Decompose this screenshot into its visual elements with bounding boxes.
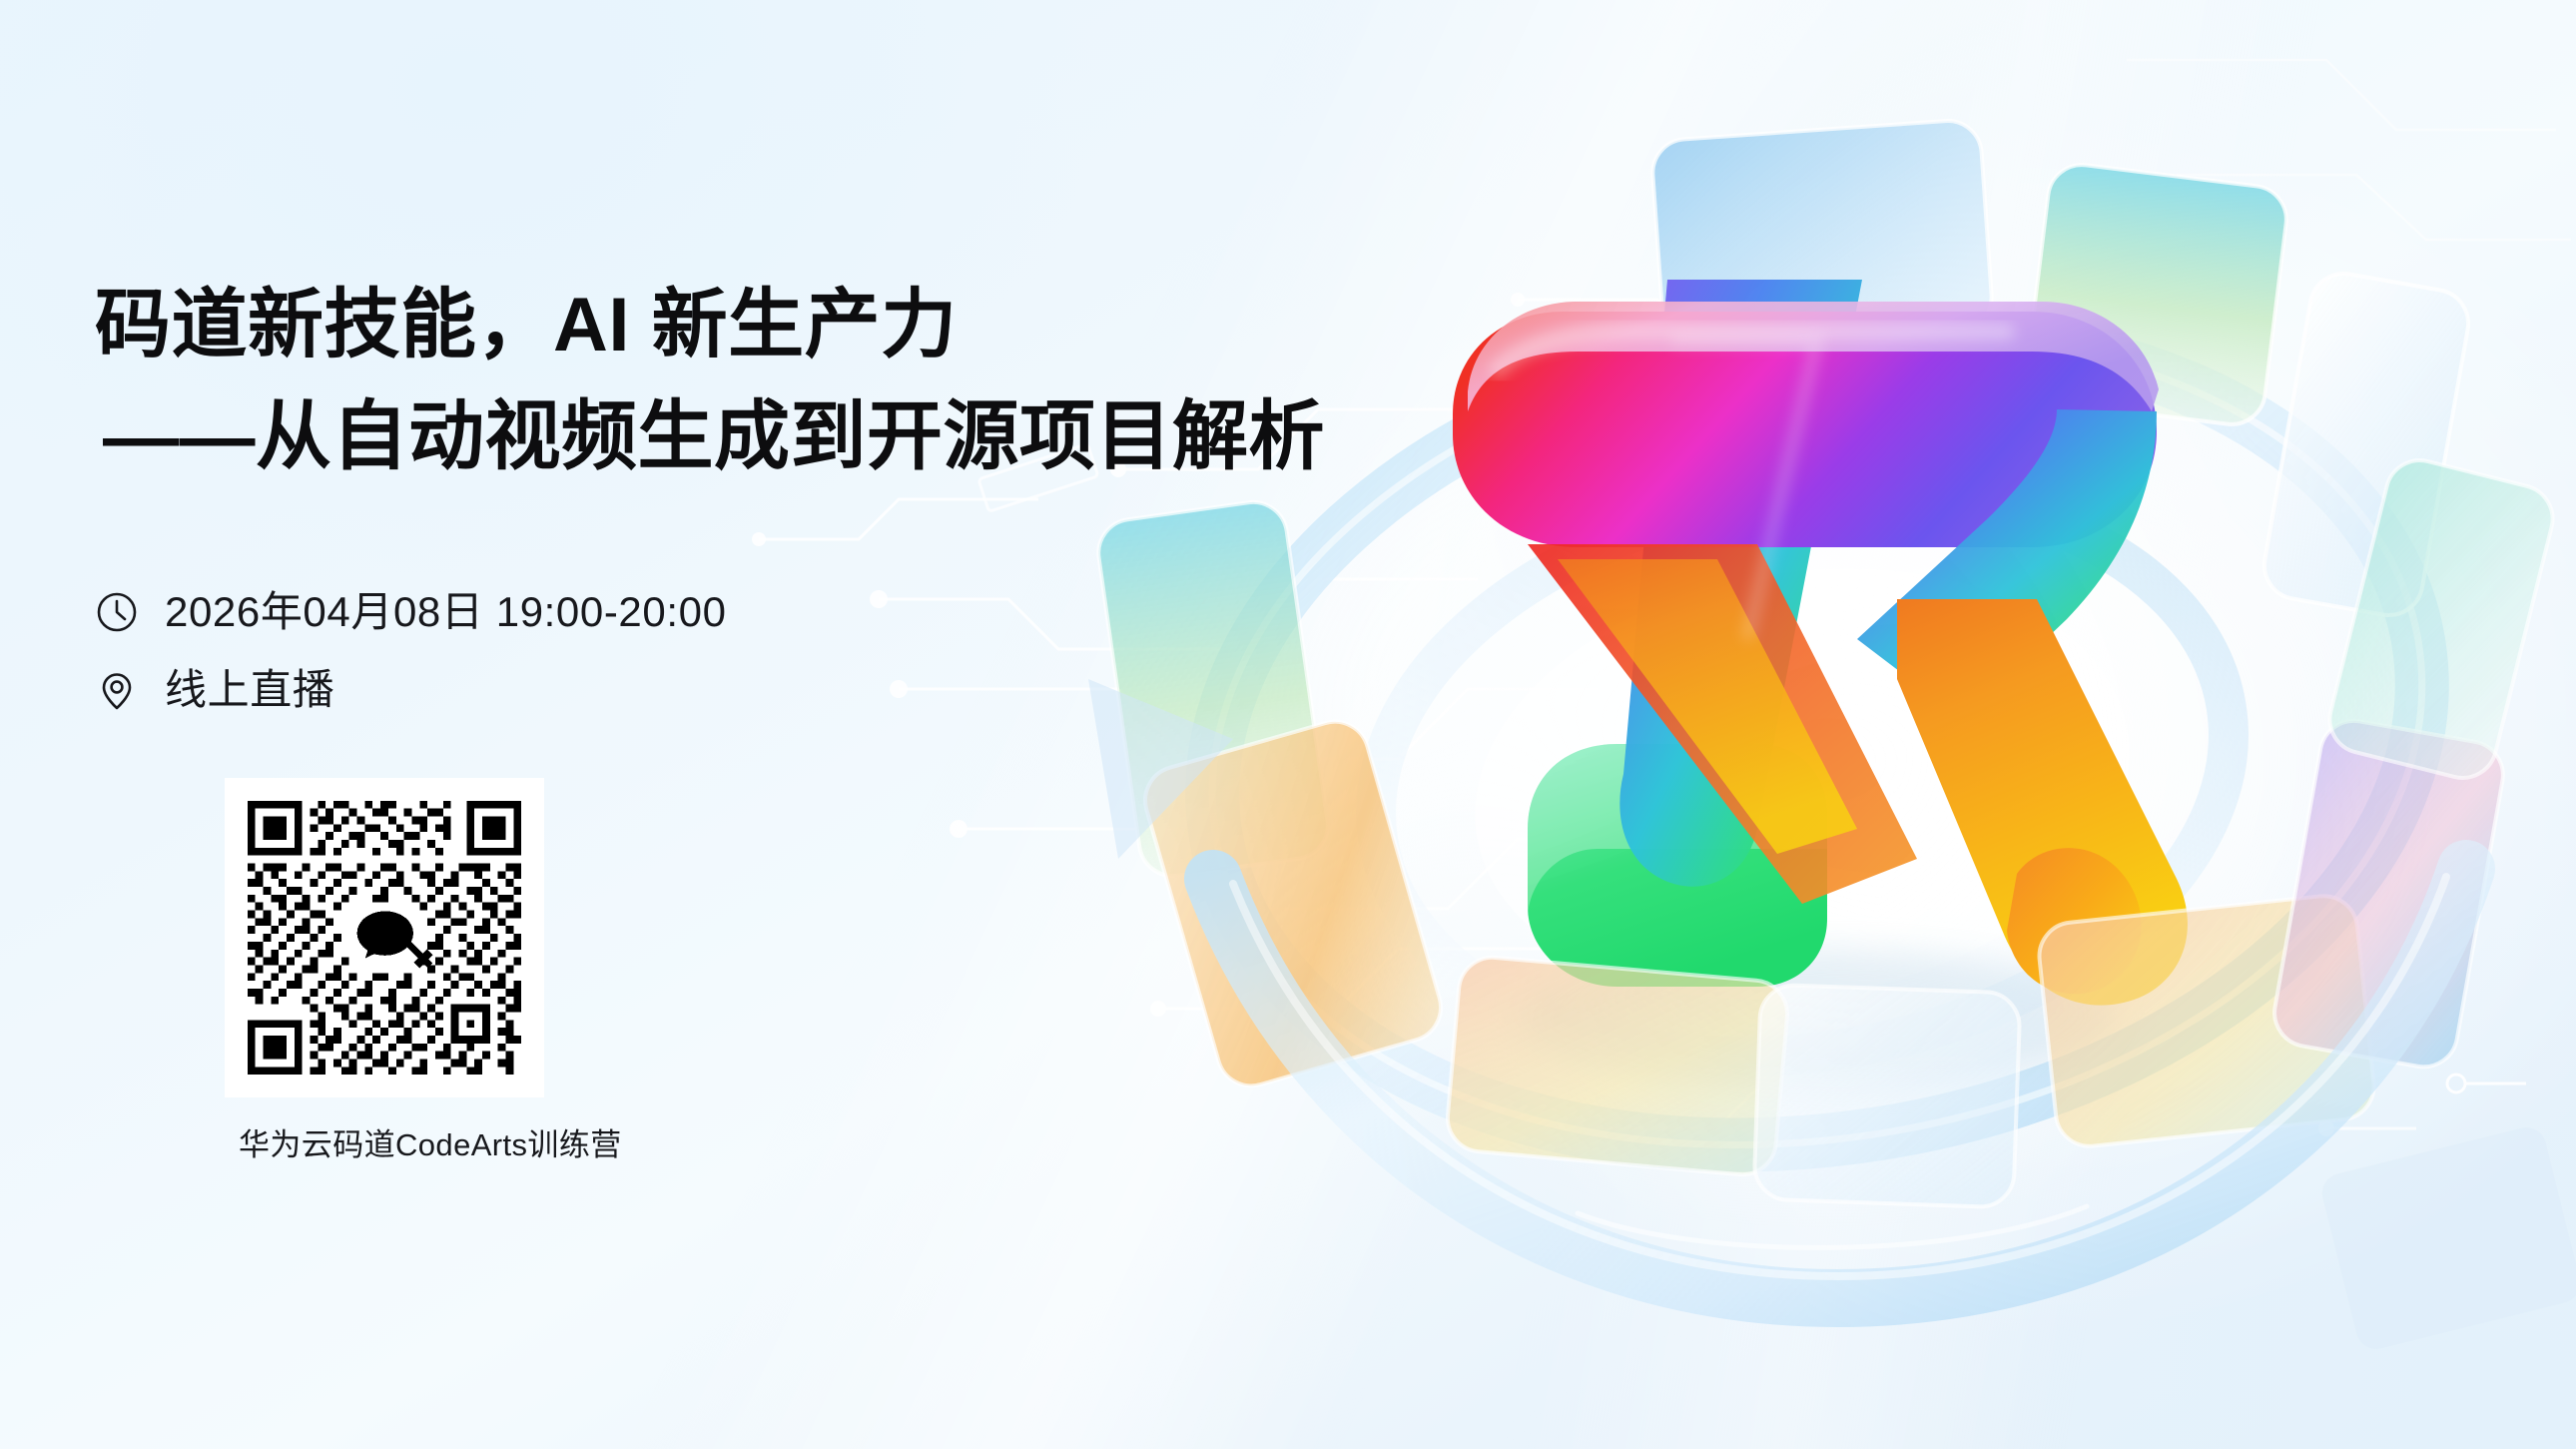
event-location-text: 线上直播 bbox=[165, 669, 334, 711]
location-pin-icon bbox=[95, 668, 139, 712]
event-details: 2026年04月08日 19:00-20:00 线上直播 bbox=[95, 590, 1493, 712]
event-datetime-row: 2026年04月08日 19:00-20:00 bbox=[95, 590, 1493, 634]
page-title-line-2: ——从自动视频生成到开源项目解析 bbox=[95, 396, 1493, 478]
event-location-row: 线上直播 bbox=[95, 668, 1493, 712]
qr-card[interactable] bbox=[225, 778, 544, 1097]
clock-icon bbox=[95, 590, 139, 634]
qr-caption: 华为云码道CodeArts训练营 bbox=[239, 1119, 558, 1164]
event-datetime-text: 2026年04月08日 19:00-20:00 bbox=[165, 591, 727, 633]
qr-code[interactable] bbox=[240, 793, 529, 1083]
qr-block: 华为云码道CodeArts训练营 bbox=[225, 778, 544, 1164]
page-title-line-1: 码道新技能，AI 新生产力 bbox=[95, 285, 1493, 366]
poster-content: 码道新技能，AI 新生产力 ——从自动视频生成到开源项目解析 2026年04月0… bbox=[95, 285, 1493, 1164]
event-poster: 码道新技能，AI 新生产力 ——从自动视频生成到开源项目解析 2026年04月0… bbox=[0, 0, 2576, 1449]
